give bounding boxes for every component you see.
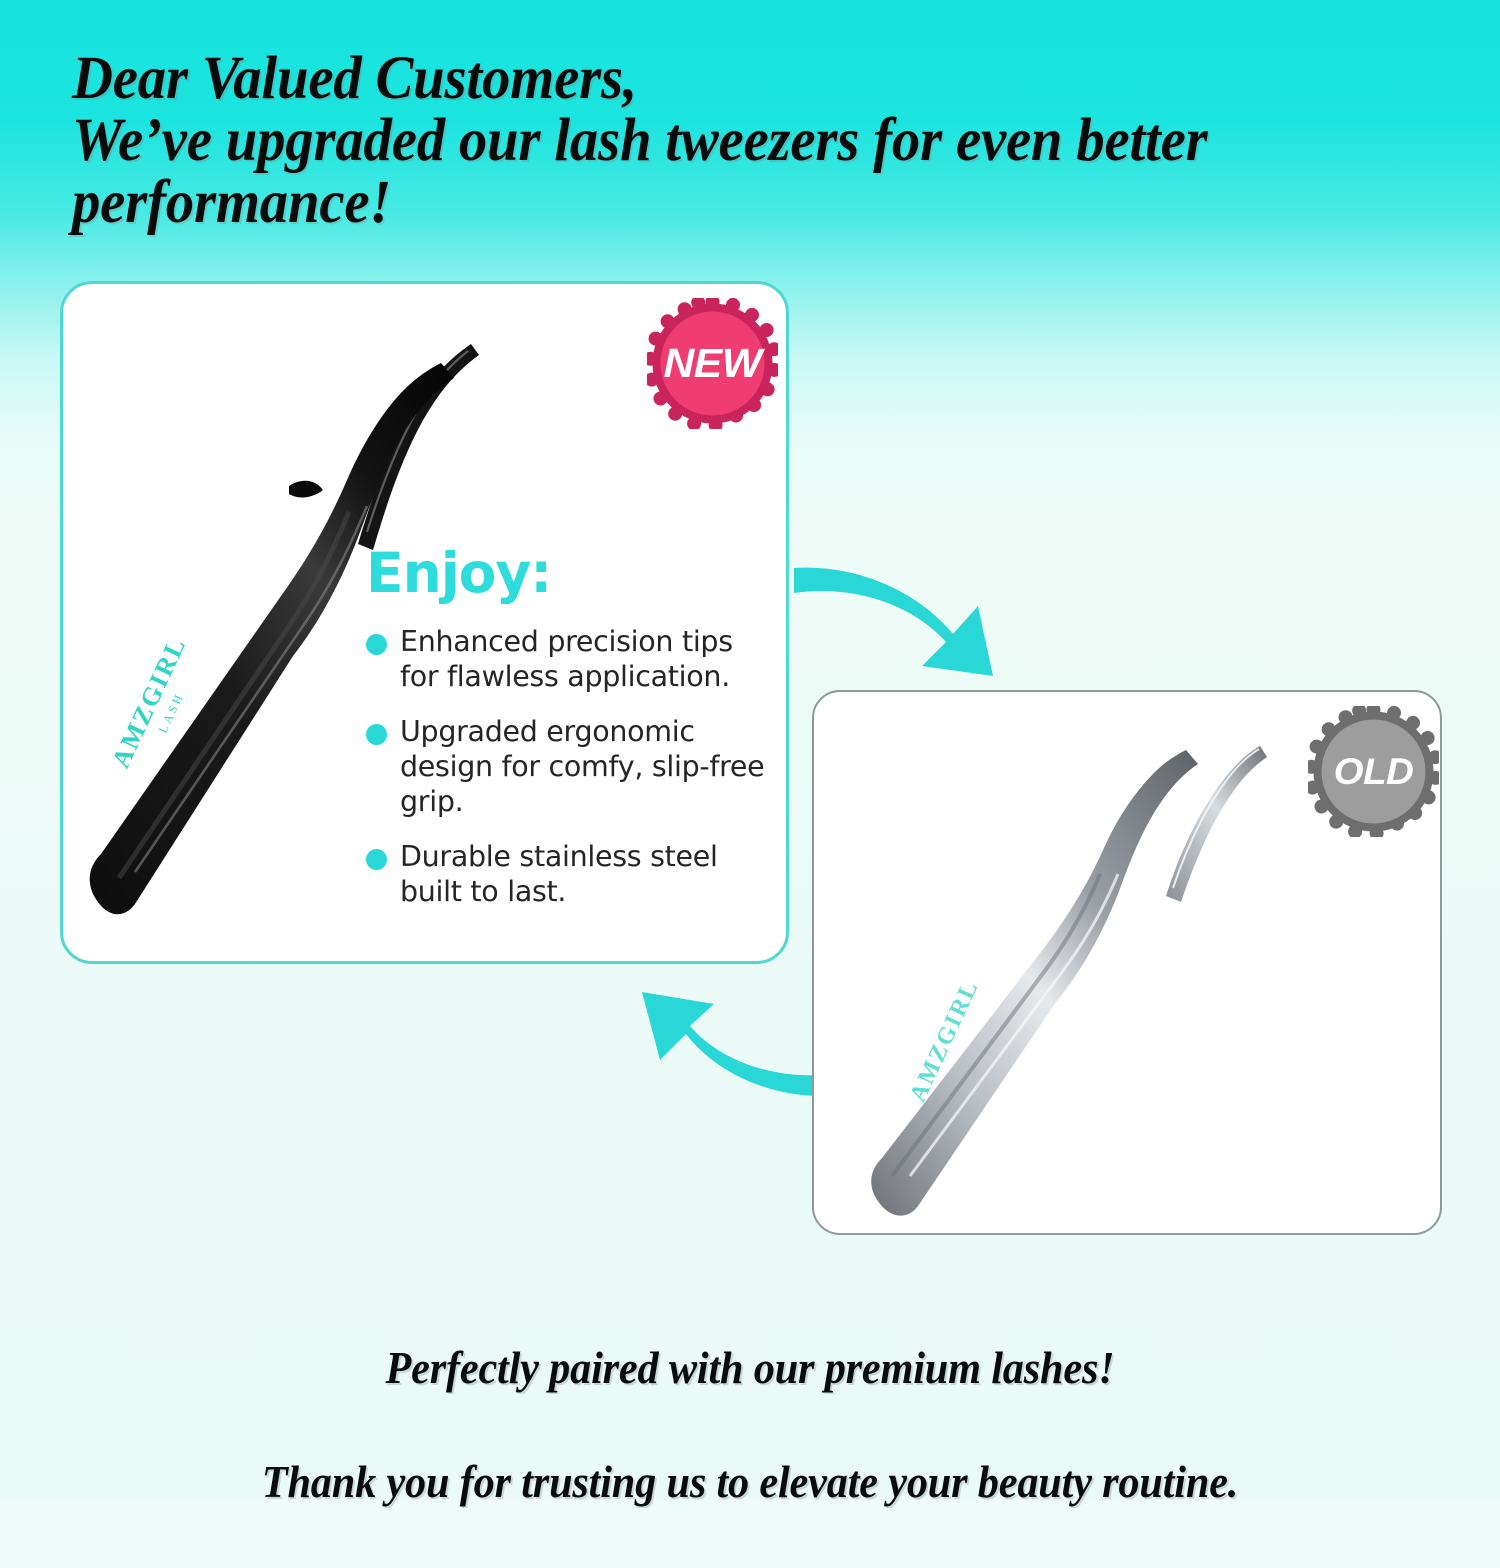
old-badge: OLD (1308, 706, 1439, 837)
old-badge-label: OLD (1305, 706, 1441, 837)
list-item: Enhanced precision tips for flawless app… (366, 624, 768, 694)
curved-arrow-down-right-icon (788, 548, 1018, 678)
enjoy-feature-list: Enjoy: Enhanced precision tips for flawl… (366, 544, 768, 929)
page-title: Dear Valued Customers, We’ve upgraded ou… (72, 48, 1365, 234)
list-item: Upgraded ergonomic design for comfy, sli… (366, 714, 768, 819)
new-badge-label: NEW (644, 298, 780, 429)
list-item-label: Upgraded ergonomic design for comfy, sli… (400, 714, 768, 819)
list-item-label: Enhanced precision tips for flawless app… (400, 624, 768, 694)
bullet-dot-icon (366, 634, 387, 655)
bullet-dot-icon (366, 724, 387, 745)
footer-line-1: Perfectly paired with our premium lashes… (45, 1340, 1455, 1397)
footer-message: Perfectly paired with our premium lashes… (0, 1283, 1500, 1568)
enjoy-heading: Enjoy: (366, 544, 768, 602)
list-item-label: Durable stainless steel built to last. (400, 839, 768, 909)
promo-banner: Dear Valued Customers, We’ve upgraded ou… (0, 0, 1500, 1500)
footer-line-2: Thank you for trusting us to elevate you… (45, 1454, 1455, 1511)
list-item: Durable stainless steel built to last. (366, 839, 768, 909)
silver-lash-tweezer-icon (848, 706, 1308, 1226)
new-badge: NEW (647, 298, 778, 429)
bullet-dot-icon (366, 849, 387, 870)
